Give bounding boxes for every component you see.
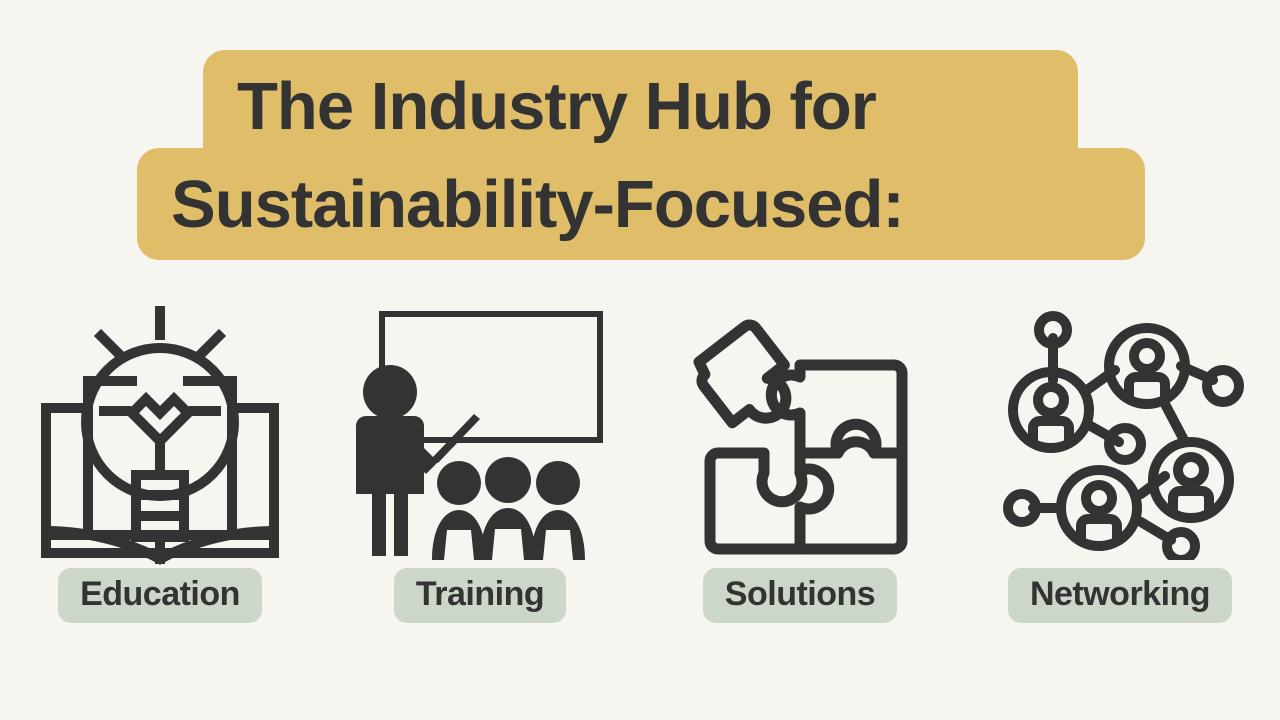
category-label-networking: Networking (1008, 568, 1232, 623)
category-card-solutions[interactable]: Solutions (640, 300, 960, 680)
category-cards-row: Education (0, 300, 1280, 680)
jigsaw-puzzle-pieces-icon (680, 300, 920, 568)
category-card-training[interactable]: Training (320, 300, 640, 680)
category-label-training: Training (394, 568, 566, 623)
category-card-education[interactable]: Education (0, 300, 320, 680)
category-label-solutions: Solutions (703, 568, 897, 623)
title-banner-line-1: The Industry Hub for (203, 50, 1078, 162)
category-label-education: Education (58, 568, 262, 623)
category-card-networking[interactable]: Networking (960, 300, 1280, 680)
presenter-whiteboard-audience-icon (344, 300, 616, 568)
people-network-nodes-icon (995, 300, 1245, 568)
title-text-line-2: Sustainability-Focused: (171, 171, 904, 238)
title-banner-line-2: Sustainability-Focused: (137, 148, 1145, 260)
title-text-line-1: The Industry Hub for (237, 73, 876, 140)
book-lightbulb-icon (26, 300, 294, 568)
title-block: The Industry Hub for Sustainability-Focu… (0, 0, 1280, 280)
